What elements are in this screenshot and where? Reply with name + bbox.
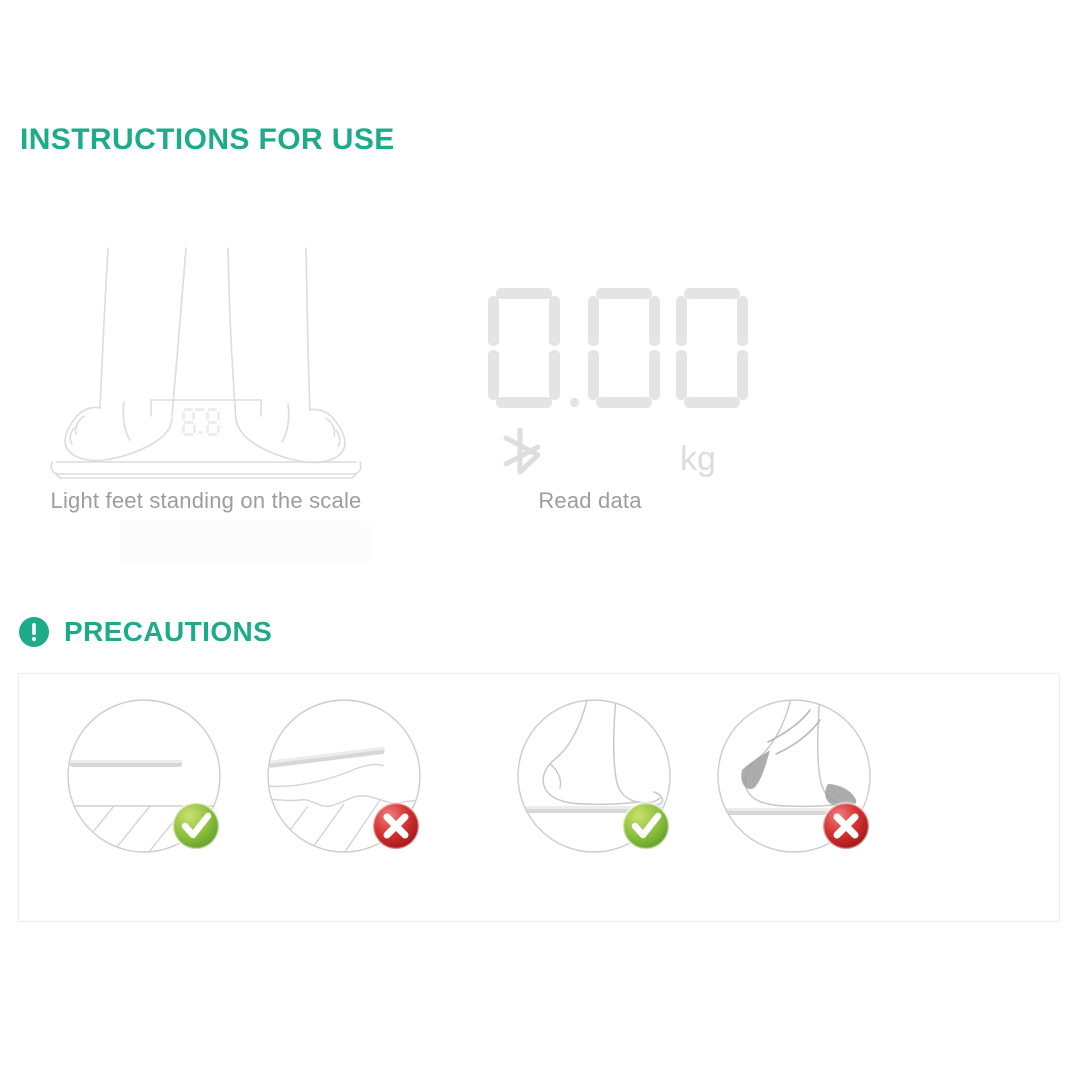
sock-foot-on-scale-illustration xyxy=(706,688,886,868)
instruction-steps: Light feet standing on the scale xyxy=(0,230,1080,550)
background-artifact xyxy=(120,520,370,565)
seven-segment-digits xyxy=(488,288,748,408)
precaution-item-sock-foot xyxy=(706,688,886,868)
instruction-step-read-data: kg Read data xyxy=(380,230,800,550)
instruction-step-caption: Read data xyxy=(380,488,800,514)
instruction-step-caption: Light feet standing on the scale xyxy=(0,488,416,514)
scale-display-ghost-text xyxy=(182,408,220,436)
cross-badge xyxy=(823,803,869,849)
check-badge xyxy=(173,803,219,849)
check-badge xyxy=(623,803,669,849)
unit-label: kg xyxy=(680,440,716,478)
precaution-items xyxy=(19,674,1059,921)
cross-badge xyxy=(373,803,419,849)
precaution-item-uneven-floor xyxy=(256,688,436,868)
bluetooth-icon xyxy=(506,430,538,472)
decimal-point xyxy=(570,398,579,407)
feet-on-scale-illustration xyxy=(0,230,416,480)
instruction-step-feet-on-scale: Light feet standing on the scale xyxy=(0,230,416,550)
scale-on-uneven-floor-illustration xyxy=(256,688,436,868)
bare-foot-on-scale-illustration xyxy=(506,688,686,868)
precautions-title: PRECAUTIONS xyxy=(64,616,272,648)
precautions-header: PRECAUTIONS xyxy=(18,616,272,648)
instructions-for-use-title: INSTRUCTIONS FOR USE xyxy=(20,123,395,157)
sock-shading xyxy=(741,750,770,789)
exclamation-circle-icon xyxy=(18,616,50,648)
precaution-item-hard-floor xyxy=(56,688,236,868)
lcd-readout-illustration: kg xyxy=(380,230,800,480)
precautions-panel xyxy=(18,673,1060,922)
scale-on-hard-floor-illustration xyxy=(56,688,236,868)
precaution-item-bare-foot xyxy=(506,688,686,868)
